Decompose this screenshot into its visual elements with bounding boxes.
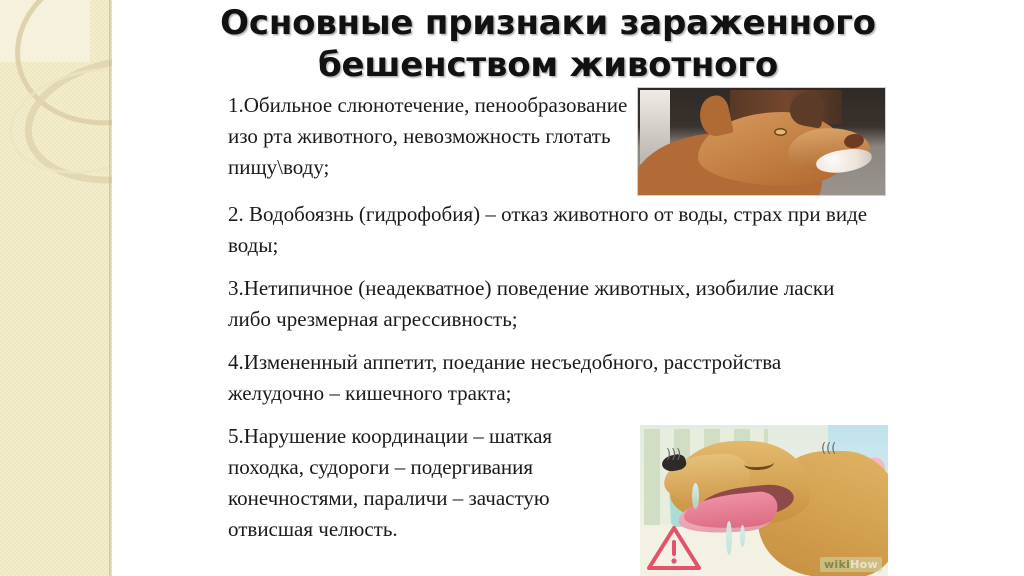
list-item: 3.Нетипичное (неадекватное) поведение жи… [228, 273, 868, 335]
list-item: 2. Водобоязнь (гидрофобия) – отказ живот… [228, 199, 868, 261]
slide-canvas: Основные признаки зараженного бешенством… [0, 0, 1024, 576]
warning-triangle-icon [646, 524, 702, 572]
illustration-drooling-dog-warning: ))) ))) wikiHow [640, 425, 888, 576]
list-item: 5.Нарушение координации – шаткая походка… [228, 421, 630, 545]
dog-eye-shape [774, 128, 787, 136]
list-item: 1.Обильное слюнотечение, пенообразование… [228, 90, 630, 183]
slide-title: Основные признаки зараженного бешенством… [178, 2, 918, 86]
watermark-prefix: wiki [824, 558, 850, 571]
slide-title-line-2: бешенством животного [178, 44, 918, 86]
decorative-side-band [0, 0, 112, 576]
dog-drool-drop [740, 525, 745, 547]
band-edge-line [109, 0, 112, 576]
photo-rabid-dog-foaming-mouth [638, 88, 885, 195]
slide-title-line-1: Основные признаки зараженного [178, 2, 918, 44]
motion-lines-left-icon: ))) [666, 447, 681, 462]
dog-drool-drop [726, 521, 732, 555]
watermark-suffix: How [850, 558, 878, 571]
dog-drool-drop [692, 483, 699, 509]
wikihow-watermark: wikiHow [820, 557, 882, 572]
list-item: 4.Измененный аппетит, поедание несъедобн… [228, 347, 868, 409]
motion-lines-right-icon: ))) [821, 441, 836, 456]
